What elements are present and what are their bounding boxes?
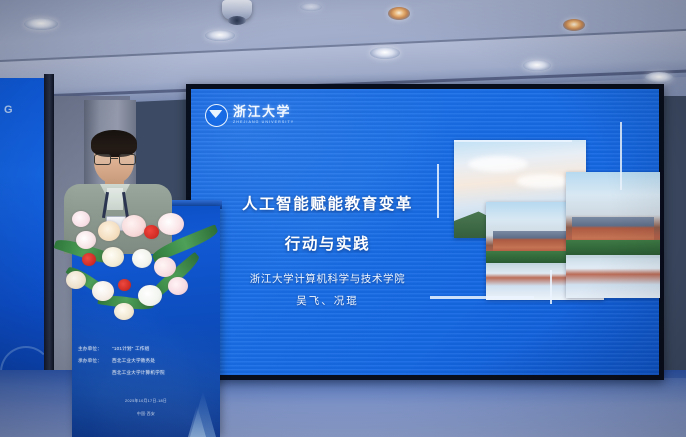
flower-blossom xyxy=(92,281,114,301)
flower-blossom xyxy=(102,247,124,267)
glasses-bridge xyxy=(110,158,118,159)
cloud-shape xyxy=(516,174,572,188)
ceiling xyxy=(0,0,686,96)
conference-photo: G 浙江大学 ZHEJIANG UNIVERSITY 人工智能赋能教育变革 行动… xyxy=(0,0,686,437)
flower-bouquet xyxy=(58,185,218,330)
projector-lens-icon xyxy=(228,16,246,25)
cloud-shape xyxy=(468,156,528,172)
zhejiang-university-logo: 浙江大学 ZHEJIANG UNIVERSITY xyxy=(205,104,294,127)
floor-light-sheen xyxy=(150,378,686,437)
podium-host-label: 承办单位： xyxy=(78,358,102,364)
downlight-icon xyxy=(205,30,235,41)
slide-affiliation: 浙江大学计算机科学与技术学院 xyxy=(215,271,440,286)
zju-name-en: ZHEJIANG UNIVERSITY xyxy=(233,121,294,125)
downlight-icon xyxy=(24,18,58,30)
flower-blossom xyxy=(114,303,134,320)
slide-authors: 吴飞、况琨 xyxy=(215,293,440,308)
glasses-lens-left xyxy=(94,154,111,165)
flower-blossom xyxy=(122,215,146,237)
flower-blossom xyxy=(98,221,120,241)
slide-title-line2: 行动与实践 xyxy=(215,232,440,254)
side-panel-bezel xyxy=(44,74,54,404)
collage-frame-line xyxy=(550,270,552,304)
collage-frame-line xyxy=(454,140,572,142)
flower-blossom xyxy=(72,211,90,227)
podium-date: 2025年10月17日-18日 xyxy=(72,399,220,404)
flower-blossom xyxy=(132,249,152,268)
speaker-hair xyxy=(91,130,137,157)
zju-wordmark: 浙江大学 ZHEJIANG UNIVERSITY xyxy=(233,106,294,125)
downlight-icon xyxy=(523,60,551,71)
flower-blossom-red xyxy=(144,225,159,239)
flower-blossom-red xyxy=(82,253,96,266)
flower-blossom xyxy=(138,285,162,306)
flower-blossom xyxy=(158,213,184,235)
podium-host-value-1: 西北工业大学教务处 xyxy=(112,358,155,364)
flower-blossom xyxy=(66,271,86,289)
campus-photo-right xyxy=(566,172,660,298)
collage-frame-line xyxy=(437,164,439,218)
collage-frame-line xyxy=(430,296,534,299)
downlight-icon xyxy=(300,3,322,11)
slide-title-line1: 人工智能赋能教育变革 xyxy=(215,192,440,214)
podium-organizer-label: 主办单位： xyxy=(78,346,102,352)
downlight-icon xyxy=(563,19,585,31)
zju-emblem-icon xyxy=(205,104,228,127)
side-panel-glyph: G xyxy=(4,104,13,116)
slide-photo-collage xyxy=(430,140,660,320)
downlight-icon xyxy=(388,7,410,20)
collage-frame-line xyxy=(620,122,622,190)
podium-organizer-value: "101计划" 工作组 xyxy=(112,346,149,352)
flower-blossom-red xyxy=(118,279,131,291)
flower-blossom xyxy=(76,231,96,249)
glasses-lens-right xyxy=(119,154,136,165)
flower-blossom xyxy=(154,257,176,277)
downlight-icon xyxy=(370,47,400,59)
podium-host-value-2: 西北工业大学计算机学院 xyxy=(112,370,165,376)
zju-name-cn: 浙江大学 xyxy=(233,106,294,119)
side-led-panel: G xyxy=(0,78,48,400)
campus-water-reflection xyxy=(566,255,660,298)
glasses-icon xyxy=(94,154,134,163)
flower-blossom xyxy=(168,277,188,295)
downlight-icon xyxy=(645,72,673,83)
